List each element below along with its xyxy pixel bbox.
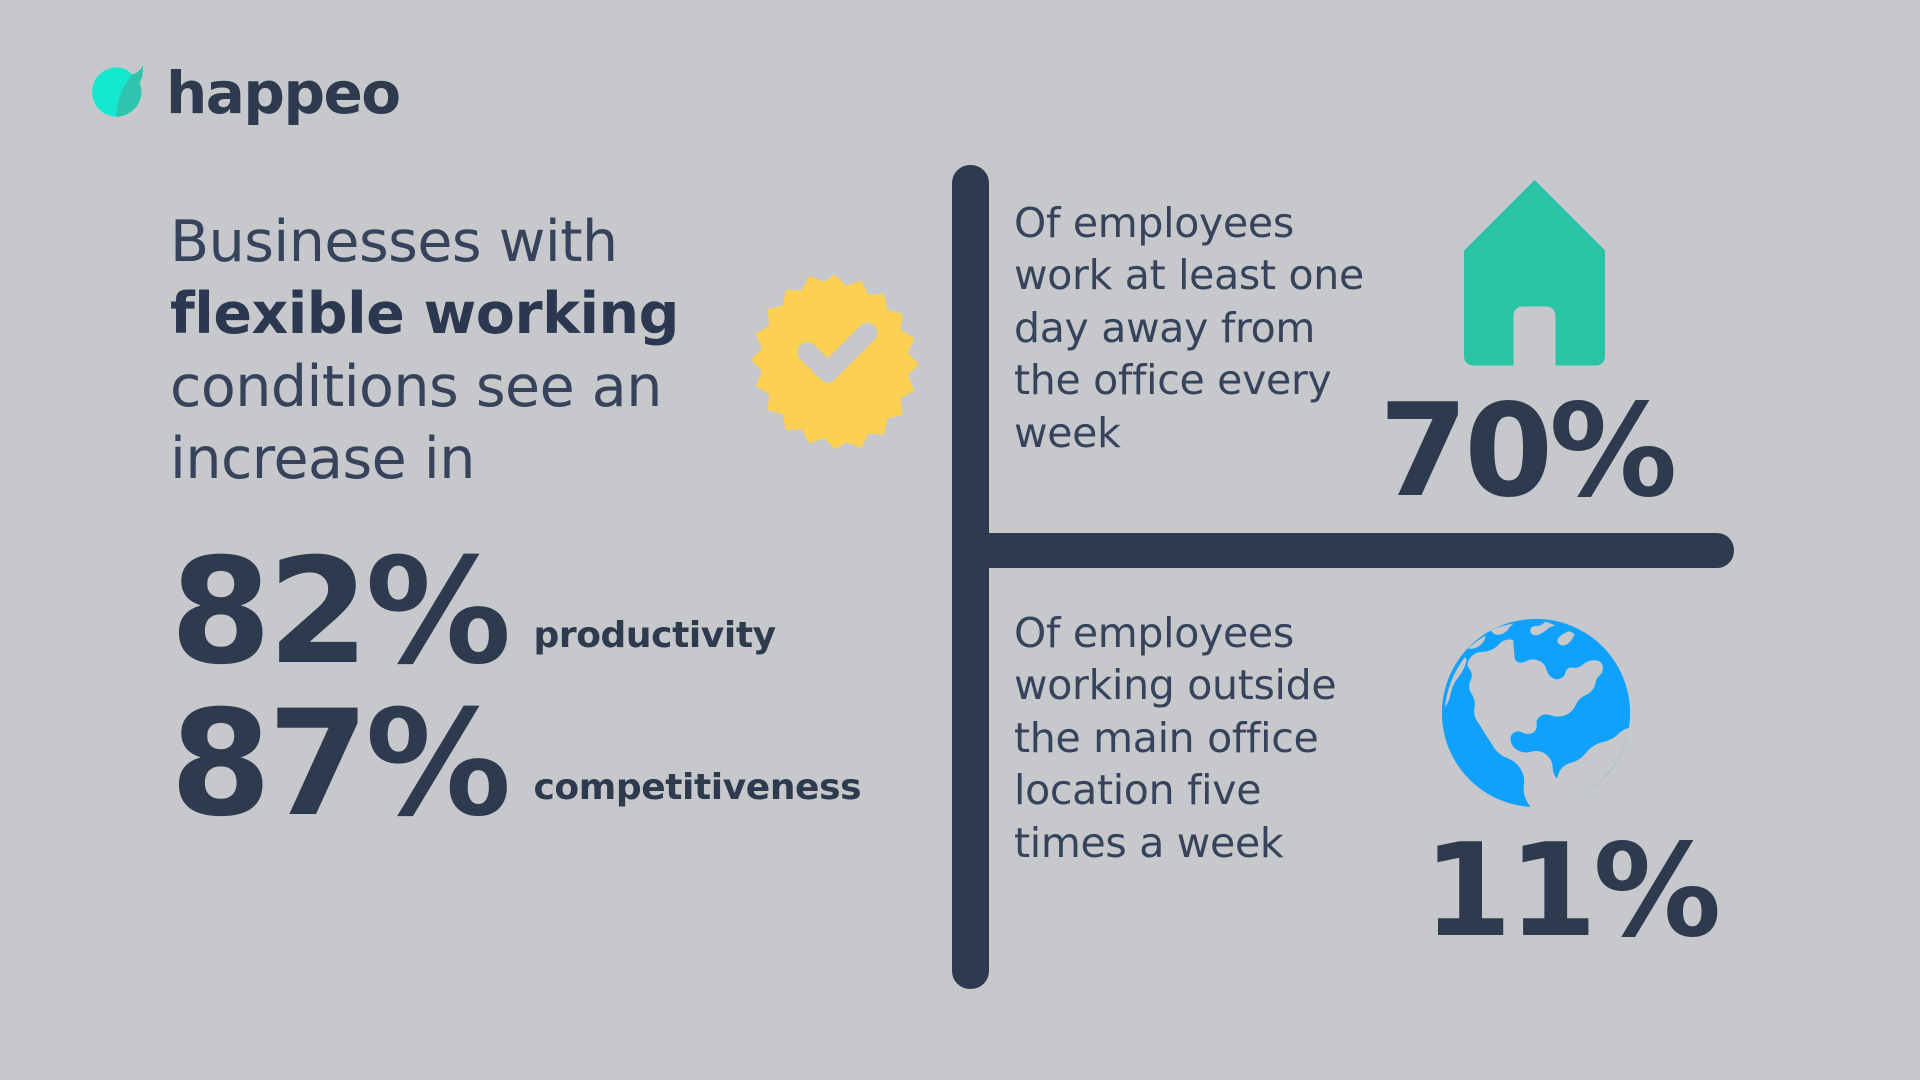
- lead-statement: Businesses with flexible working conditi…: [170, 206, 790, 496]
- panel-text-remote-weekly: Of employees work at least one day away …: [1014, 197, 1374, 459]
- lead-text-emphasis: flexible working: [170, 281, 679, 347]
- brand-logo: happeo: [88, 62, 400, 124]
- check-badge-icon: [745, 272, 925, 452]
- globe-icon: [1438, 615, 1634, 811]
- infographic-canvas: happeo Businesses with flexible working …: [0, 0, 1920, 1080]
- panel-percent-remote-weekly: 70%: [1379, 388, 1673, 516]
- stat-row-competitiveness: 87% competitiveness: [170, 694, 790, 834]
- panel-remote-weekly: Of employees work at least one day away …: [1014, 197, 1374, 459]
- stat-label-productivity: productivity: [507, 615, 775, 682]
- divider-horizontal: [952, 533, 1734, 568]
- panel-text-fully-remote: Of employees working outside the main of…: [1014, 607, 1374, 869]
- stat-row-productivity: 82% productivity: [170, 542, 790, 682]
- leaf-drop-icon: [88, 62, 150, 124]
- brand-wordmark: happeo: [166, 64, 400, 122]
- stat-value-productivity: 82%: [170, 542, 507, 682]
- lead-text-part1: Businesses with: [170, 209, 618, 275]
- stat-label-competitiveness: competitiveness: [507, 767, 861, 834]
- panel-percent-fully-remote: 11%: [1423, 828, 1717, 956]
- stat-value-competitiveness: 87%: [170, 694, 507, 834]
- panel-fully-remote: Of employees working outside the main of…: [1014, 607, 1374, 869]
- divider-vertical: [952, 165, 989, 989]
- house-icon: [1462, 178, 1607, 368]
- left-column: Businesses with flexible working conditi…: [170, 206, 790, 834]
- lead-text-part2: conditions see an increase in: [170, 354, 662, 492]
